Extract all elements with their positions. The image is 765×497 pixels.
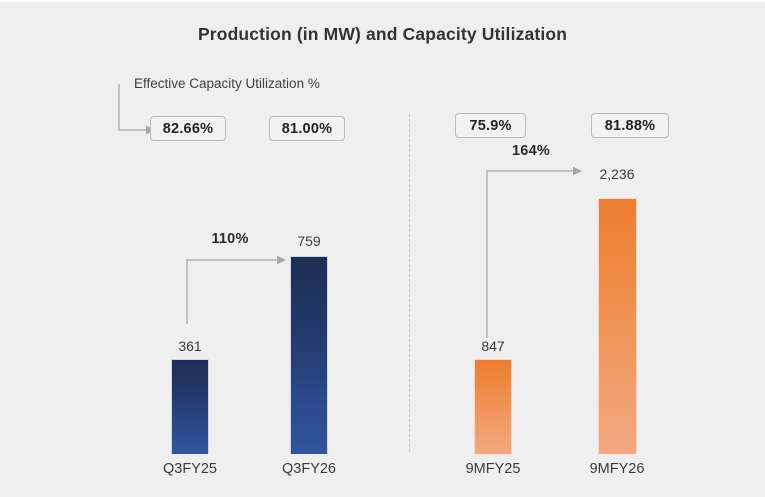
growth-arrow-quarter [183,254,289,326]
capacity-pill-q3fy26: 81.00% [269,116,345,141]
capacity-pill-9mfy26: 81.88% [591,113,669,138]
bar-value-9mfy25: 847 [453,338,533,354]
growth-label-quarter: 110% [180,231,280,247]
growth-label-nine-months: 164% [481,143,581,159]
category-label-9mfy26: 9MFY26 [567,461,667,477]
category-label-9mfy25: 9MFY25 [443,461,543,477]
capacity-utilization-caption: Effective Capacity Utilization % [134,76,320,91]
bar-q3fy26 [290,256,328,454]
production-capacity-chart: Production (in MW) and Capacity Utilizat… [0,0,765,497]
capacity-pill-9mfy25: 75.9% [455,113,526,138]
panel-divider [409,114,410,452]
chart-title: Production (in MW) and Capacity Utilizat… [0,24,765,45]
category-label-q3fy26: Q3FY26 [259,461,359,477]
bar-value-q3fy26: 759 [269,233,349,249]
category-label-q3fy25: Q3FY25 [140,461,240,477]
bar-q3fy25 [171,359,209,454]
capacity-pill-q3fy25: 82.66% [150,116,226,141]
bar-value-9mfy26: 2,236 [577,166,657,182]
bar-9mfy26 [598,198,637,454]
bar-value-q3fy25: 361 [150,338,230,354]
growth-arrow-nine-months [483,165,585,340]
bar-9mfy25 [474,359,512,454]
